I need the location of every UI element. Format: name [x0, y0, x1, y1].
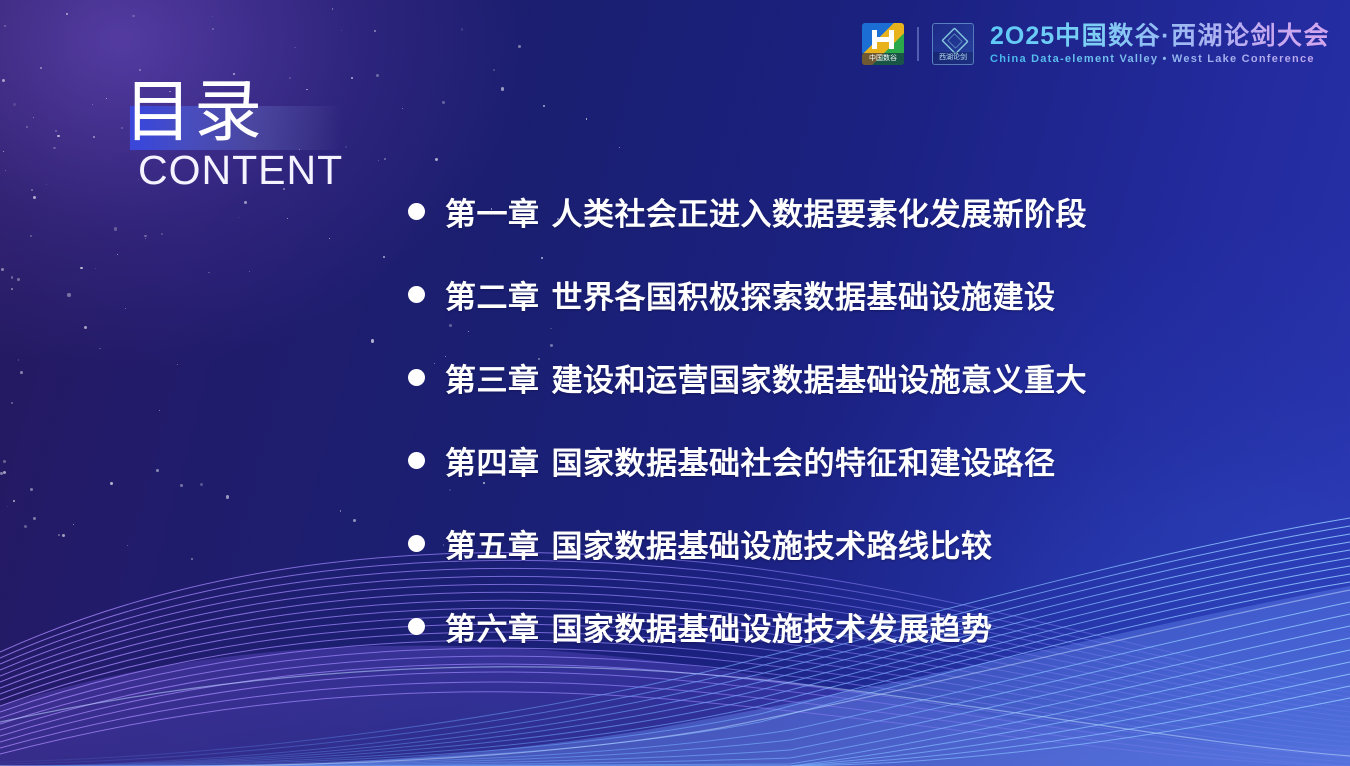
star-particle	[461, 28, 464, 31]
agenda-item[interactable]: 第四章国家数据基础社会的特征和建设路径	[408, 435, 1288, 485]
star-particle	[17, 278, 20, 281]
star-particle	[249, 271, 250, 272]
china-data-valley-logo: 中国数谷	[862, 23, 904, 65]
filled-circle-bullet-icon	[408, 203, 425, 220]
agenda-item-chapter: 第三章	[445, 363, 540, 399]
star-particle	[55, 130, 57, 132]
star-particle	[92, 104, 93, 105]
star-particle	[11, 288, 13, 290]
star-particle	[145, 238, 146, 239]
star-particle	[212, 28, 214, 30]
star-particle	[543, 105, 545, 107]
star-particle	[7, 506, 9, 508]
star-particle	[493, 69, 495, 71]
star-particle	[226, 495, 229, 498]
star-particle	[13, 103, 16, 106]
star-particle	[139, 69, 141, 71]
star-particle	[2, 79, 5, 82]
star-particle	[127, 545, 128, 546]
agenda-item-chapter: 第五章	[445, 529, 540, 565]
star-particle	[1, 268, 4, 271]
star-particle	[3, 460, 6, 463]
star-particle	[117, 254, 118, 255]
star-particle	[80, 267, 83, 270]
filled-circle-bullet-icon	[408, 535, 425, 552]
star-particle	[4, 25, 6, 27]
page-title-en: CONTENT	[138, 149, 454, 192]
brand-title-year: 2O25	[990, 22, 1055, 50]
star-particle	[67, 293, 70, 296]
star-particle	[371, 339, 374, 342]
agenda-item-title: 国家数据基础设施技术发展趋势	[552, 612, 993, 648]
star-particle	[161, 233, 163, 235]
star-particle	[30, 488, 33, 491]
star-particle	[95, 268, 96, 269]
star-particle	[11, 402, 13, 404]
agenda-list: 第一章人类社会正进入数据要素化发展新阶段第二章世界各国积极探索数据基础设施建设第…	[408, 186, 1288, 684]
agenda-item[interactable]: 第六章国家数据基础设施技术发展趋势	[408, 601, 1288, 651]
star-particle	[353, 519, 356, 522]
star-particle	[374, 30, 376, 32]
star-particle	[501, 87, 504, 90]
star-particle	[33, 196, 36, 199]
star-particle	[114, 227, 117, 230]
agenda-item[interactable]: 第三章建设和运营国家数据基础设施意义重大	[408, 352, 1288, 402]
filled-circle-bullet-icon	[408, 452, 425, 469]
star-particle	[33, 517, 36, 520]
star-particle	[132, 15, 134, 17]
star-particle	[33, 117, 34, 118]
filled-circle-bullet-icon	[408, 286, 425, 303]
brand-subtitle: China Data-element Valley • West Lake Co…	[990, 53, 1330, 65]
agenda-item-chapter: 第一章	[445, 197, 540, 233]
star-particle	[3, 151, 4, 152]
star-particle	[332, 8, 333, 9]
star-particle	[0, 472, 2, 474]
presentation-slide: 中国数谷 西湖论剑 2O25中国数谷·西湖论剑大会 China Data-ele…	[0, 0, 1350, 766]
star-particle	[26, 126, 28, 128]
agenda-item-title: 建设和运营国家数据基础设施意义重大	[552, 363, 1088, 399]
agenda-item-chapter: 第二章	[445, 280, 540, 316]
star-particle	[341, 30, 342, 31]
star-particle	[13, 500, 15, 502]
star-particle	[208, 272, 210, 274]
china-data-valley-logo-caption: 中国数谷	[862, 53, 904, 65]
star-particle	[62, 534, 65, 537]
star-particle	[200, 483, 203, 486]
star-particle	[5, 170, 6, 171]
star-particle	[340, 510, 342, 512]
star-particle	[31, 189, 33, 191]
star-particle	[93, 136, 95, 138]
star-particle	[99, 348, 101, 350]
agenda-item-label: 第四章国家数据基础社会的特征和建设路径	[445, 438, 1056, 483]
brand-text-block: 2O25中国数谷·西湖论剑大会 China Data-element Valle…	[990, 22, 1330, 65]
west-lake-sword-logo: 西湖论剑	[932, 23, 974, 65]
star-particle	[46, 184, 48, 186]
agenda-item[interactable]: 第二章世界各国积极探索数据基础设施建设	[408, 269, 1288, 319]
star-particle	[84, 326, 87, 329]
brand-title: 2O25中国数谷·西湖论剑大会	[990, 22, 1330, 50]
star-particle	[125, 308, 126, 309]
agenda-item[interactable]: 第五章国家数据基础设施技术路线比较	[408, 518, 1288, 568]
agenda-item-chapter: 第六章	[445, 612, 540, 648]
star-particle	[110, 482, 113, 485]
logo-divider	[917, 27, 919, 61]
star-particle	[144, 235, 147, 238]
star-particle	[3, 471, 6, 474]
agenda-item-title: 国家数据基础社会的特征和建设路径	[552, 446, 1056, 482]
star-particle	[66, 13, 68, 15]
agenda-item-title: 国家数据基础设施技术路线比较	[552, 529, 993, 565]
filled-circle-bullet-icon	[408, 369, 425, 386]
star-particle	[244, 201, 247, 204]
brand-title-cn: 中国数谷·西湖论剑大会	[1055, 22, 1330, 50]
star-particle	[57, 135, 59, 137]
filled-circle-bullet-icon	[408, 618, 425, 635]
star-particle	[24, 525, 27, 528]
page-title: 目录	[124, 80, 454, 147]
star-particle	[294, 47, 296, 49]
agenda-item[interactable]: 第一章人类社会正进入数据要素化发展新阶段	[408, 186, 1288, 236]
star-particle	[191, 558, 194, 561]
star-particle	[180, 484, 183, 487]
star-particle	[40, 67, 42, 69]
star-particle	[518, 45, 521, 48]
star-particle	[73, 524, 74, 525]
agenda-item-title: 人类社会正进入数据要素化发展新阶段	[552, 197, 1088, 233]
star-particle	[11, 276, 14, 279]
star-particle	[619, 147, 620, 148]
star-particle	[329, 238, 330, 239]
conference-brand-lockup: 中国数谷 西湖论剑 2O25中国数谷·西湖论剑大会 China Data-ele…	[862, 22, 1330, 65]
agenda-item-label: 第一章人类社会正进入数据要素化发展新阶段	[445, 189, 1087, 234]
star-particle	[383, 256, 385, 258]
star-particle	[287, 218, 288, 219]
star-particle	[177, 364, 178, 365]
star-particle	[159, 410, 160, 411]
star-particle	[20, 371, 23, 374]
agenda-item-label: 第六章国家数据基础设施技术发展趋势	[445, 604, 993, 649]
west-lake-sword-logo-caption: 西湖论剑	[933, 52, 973, 64]
star-particle	[586, 118, 587, 119]
star-particle	[212, 16, 213, 17]
star-particle	[238, 217, 239, 218]
star-particle	[30, 235, 32, 237]
star-particle	[58, 534, 60, 536]
diamond-icon	[941, 27, 968, 54]
agenda-item-label: 第三章建设和运营国家数据基础设施意义重大	[445, 355, 1087, 400]
star-particle	[53, 147, 55, 149]
star-particle	[156, 469, 159, 472]
star-particle	[376, 74, 379, 77]
star-particle	[106, 98, 107, 99]
star-particle	[18, 359, 19, 360]
agenda-item-label: 第五章国家数据基础设施技术路线比较	[445, 521, 993, 566]
agenda-item-label: 第二章世界各国积极探索数据基础设施建设	[445, 272, 1056, 317]
agenda-item-chapter: 第四章	[445, 446, 540, 482]
page-title-block: 目录 CONTENT	[124, 80, 454, 192]
agenda-item-title: 世界各国积极探索数据基础设施建设	[552, 280, 1056, 316]
